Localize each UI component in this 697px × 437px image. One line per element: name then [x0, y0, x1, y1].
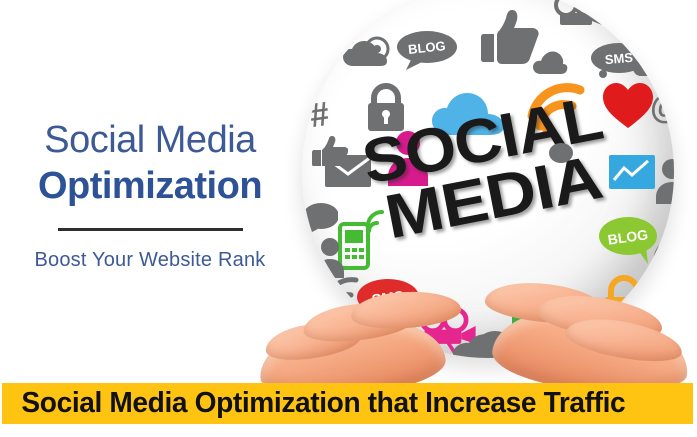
wifi-gray-icon [652, 234, 674, 268]
thumbs-up-gray-icon [480, 8, 540, 66]
thumbs-up-gray-small-icon [312, 136, 348, 166]
wifi-orange-icon [526, 82, 586, 134]
tagline: Boost Your Website Rank [0, 249, 300, 272]
globe-wordmark: SOCIAL MEDIA [315, 81, 661, 258]
wordmark-line-2: MEDIA [307, 134, 674, 261]
heart-red-icon [602, 82, 654, 130]
at-symbol-gray-small-icon [362, 36, 392, 62]
cloud-gray-top-icon [532, 48, 568, 76]
blog-bubble-label: BLOG [407, 38, 446, 57]
blog-bubble-left-icon [302, 202, 338, 236]
lock-gray-icon [364, 82, 408, 136]
blog-bubble-green-icon: BLOG [598, 216, 660, 268]
sms-bubble-label: SMS [604, 50, 634, 67]
wordmark-line-1: SOCIAL [305, 79, 659, 203]
person-gray-small-icon [314, 238, 346, 278]
blog-green-label: BLOG [607, 226, 649, 247]
headline-line-1: Social Media [0, 118, 300, 162]
dot-gray-icon [548, 142, 574, 164]
envelope-gray-icon [324, 154, 372, 188]
headline-line-2: Optimization [0, 164, 300, 208]
cloud-gray-icon [342, 40, 388, 68]
person-magenta-icon [386, 130, 430, 186]
headline-block: Social Media Optimization Boost Your Web… [0, 118, 300, 272]
person-gray-icon [654, 158, 674, 204]
sms-bubble-icon: SMS [590, 42, 648, 82]
hash-symbol-icon: # [611, 0, 637, 33]
globe-highlight [362, 12, 548, 124]
hash-symbol-left-icon: # [308, 97, 331, 133]
poster-canvas: Social Media Optimization Boost Your Web… [0, 0, 697, 437]
bottom-banner: Social Media Optimization that Increase … [2, 383, 693, 424]
at-symbol-icon: @ [650, 90, 674, 124]
left-finger-3 [350, 288, 462, 332]
blog-bubble-icon: BLOG [396, 30, 458, 74]
movie-camera-gray-icon [552, 0, 604, 32]
envelope-blue-icon [608, 154, 656, 190]
cloud-gray-right-icon [632, 48, 670, 78]
cupped-hands [255, 292, 695, 397]
cloud-blue-icon [430, 90, 506, 138]
banner-text: Social Media Optimization that Increase … [2, 387, 625, 420]
divider-rule [58, 228, 243, 231]
mobile-green-icon [338, 208, 384, 274]
